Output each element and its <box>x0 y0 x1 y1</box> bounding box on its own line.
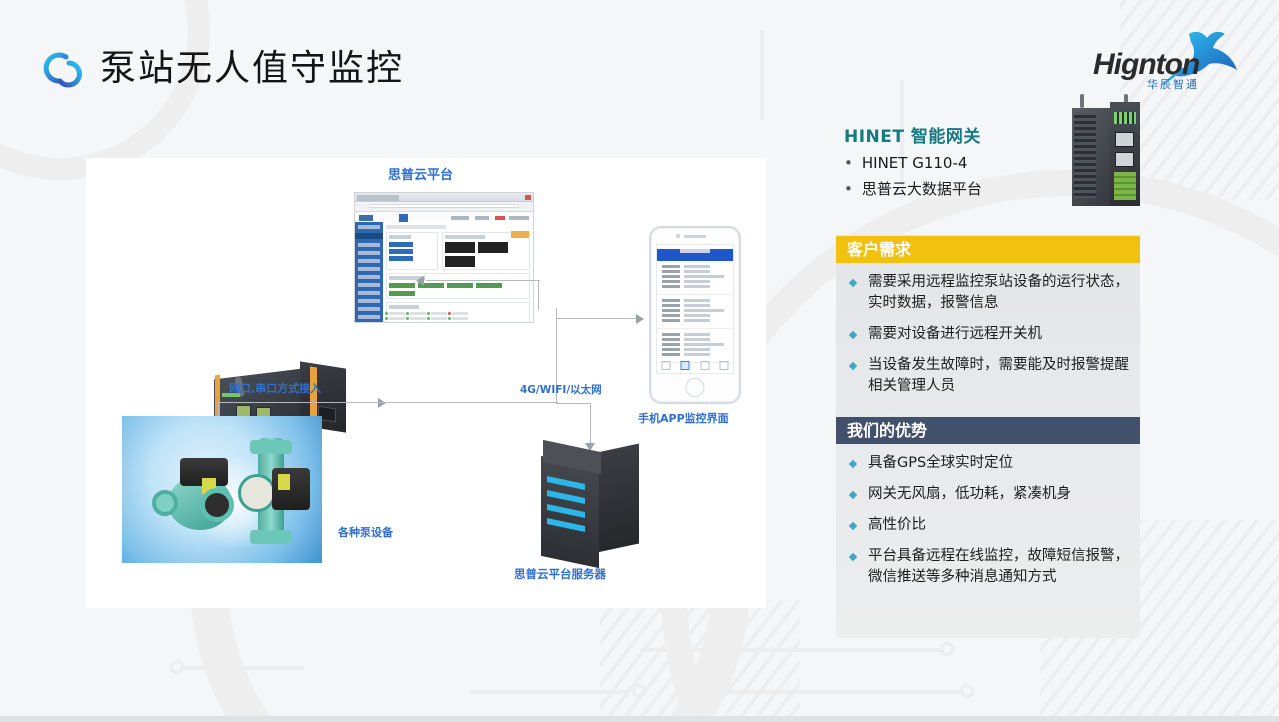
page-title: 泵站无人值守监控 <box>100 41 404 97</box>
diagram-label-link-right: 4G/WIFI/以太网 <box>520 382 602 397</box>
cloud-platform-dashboard-mock <box>354 192 534 323</box>
arrow-pumps-to-gateway <box>378 398 386 408</box>
corp-logo-subtext: 华辰智通 <box>1147 76 1199 92</box>
section-body-our-advantages: 具备GPS全球实时定位 网关无风扇，低功耗，紧凑机身 高性价比 平台具备远程在线… <box>836 444 1140 598</box>
advantage-item: 具备GPS全球实时定位 <box>846 453 1130 474</box>
section-customer-requirements: 客户需求 需要采用远程监控泵站设备的运行状态，实时数据，报警信息 需要对设备进行… <box>836 236 1140 407</box>
server-rack-illustration <box>541 448 641 566</box>
gateway-list-item: 思普云大数据平台 <box>844 176 982 202</box>
gateway-feature-list: HINET G110-4 思普云大数据平台 <box>844 150 982 202</box>
section-heading-customer-requirements: 客户需求 <box>836 236 1140 263</box>
diagram-label-phone-app: 手机APP监控界面 <box>638 410 729 426</box>
gateway-block-title: HINET 智能网关 <box>844 122 981 147</box>
diagram-label-pumps: 各种泵设备 <box>338 524 393 540</box>
arrow-to-cloud-platform <box>416 276 424 286</box>
dual-circle-logo-icon <box>36 41 92 97</box>
diagram-label-server: 思普云平台服务器 <box>514 566 606 582</box>
section-heading-our-advantages: 我们的优势 <box>836 417 1140 444</box>
mobile-app-mock <box>649 226 741 404</box>
section-body-customer-requirements: 需要采用远程监控泵站设备的运行状态，实时数据，报警信息 需要对设备进行远程开关机… <box>836 263 1140 407</box>
corp-logo: Hignton 华辰智通 <box>1091 28 1239 96</box>
diagram-label-cloud-platform: 思普云平台 <box>388 164 453 183</box>
slide-canvas: 泵站无人值守监控 Hignton 华辰智通 思普云平台 <box>0 0 1279 722</box>
advantage-item: 平台具备远程在线监控，故障短信报警，微信推送等多种消息通知方式 <box>846 546 1130 588</box>
requirement-item: 需要对设备进行远程开关机 <box>846 324 1130 345</box>
footer-divider <box>0 716 1279 722</box>
right-info-column: HINET 智能网关 HINET G110-4 思普云大数据平台 客户需求 <box>836 108 1140 638</box>
pump-equipment-photo <box>122 416 322 563</box>
section-our-advantages: 我们的优势 具备GPS全球实时定位 网关无风扇，低功耗，紧凑机身 高性价比 平台… <box>836 417 1140 598</box>
arrow-to-phone-app <box>636 314 644 324</box>
architecture-diagram: 思普云平台 <box>86 158 766 608</box>
requirement-item: 当设备发生故障时，需要能及时报警提醒相关管理人员 <box>846 355 1130 397</box>
diagram-label-link-left: 网口,串口方式接入 <box>229 380 321 396</box>
advantage-item: 网关无风扇，低功耗，紧凑机身 <box>846 484 1130 505</box>
gateway-info-block: HINET 智能网关 HINET G110-4 思普云大数据平台 <box>836 108 1140 226</box>
requirement-item: 需要采用远程监控泵站设备的运行状态，实时数据，报警信息 <box>846 272 1130 314</box>
advantage-item: 高性价比 <box>846 515 1130 536</box>
page-header: 泵站无人值守监控 Hignton 华辰智通 <box>0 0 1279 118</box>
gateway-list-item: HINET G110-4 <box>844 150 982 176</box>
